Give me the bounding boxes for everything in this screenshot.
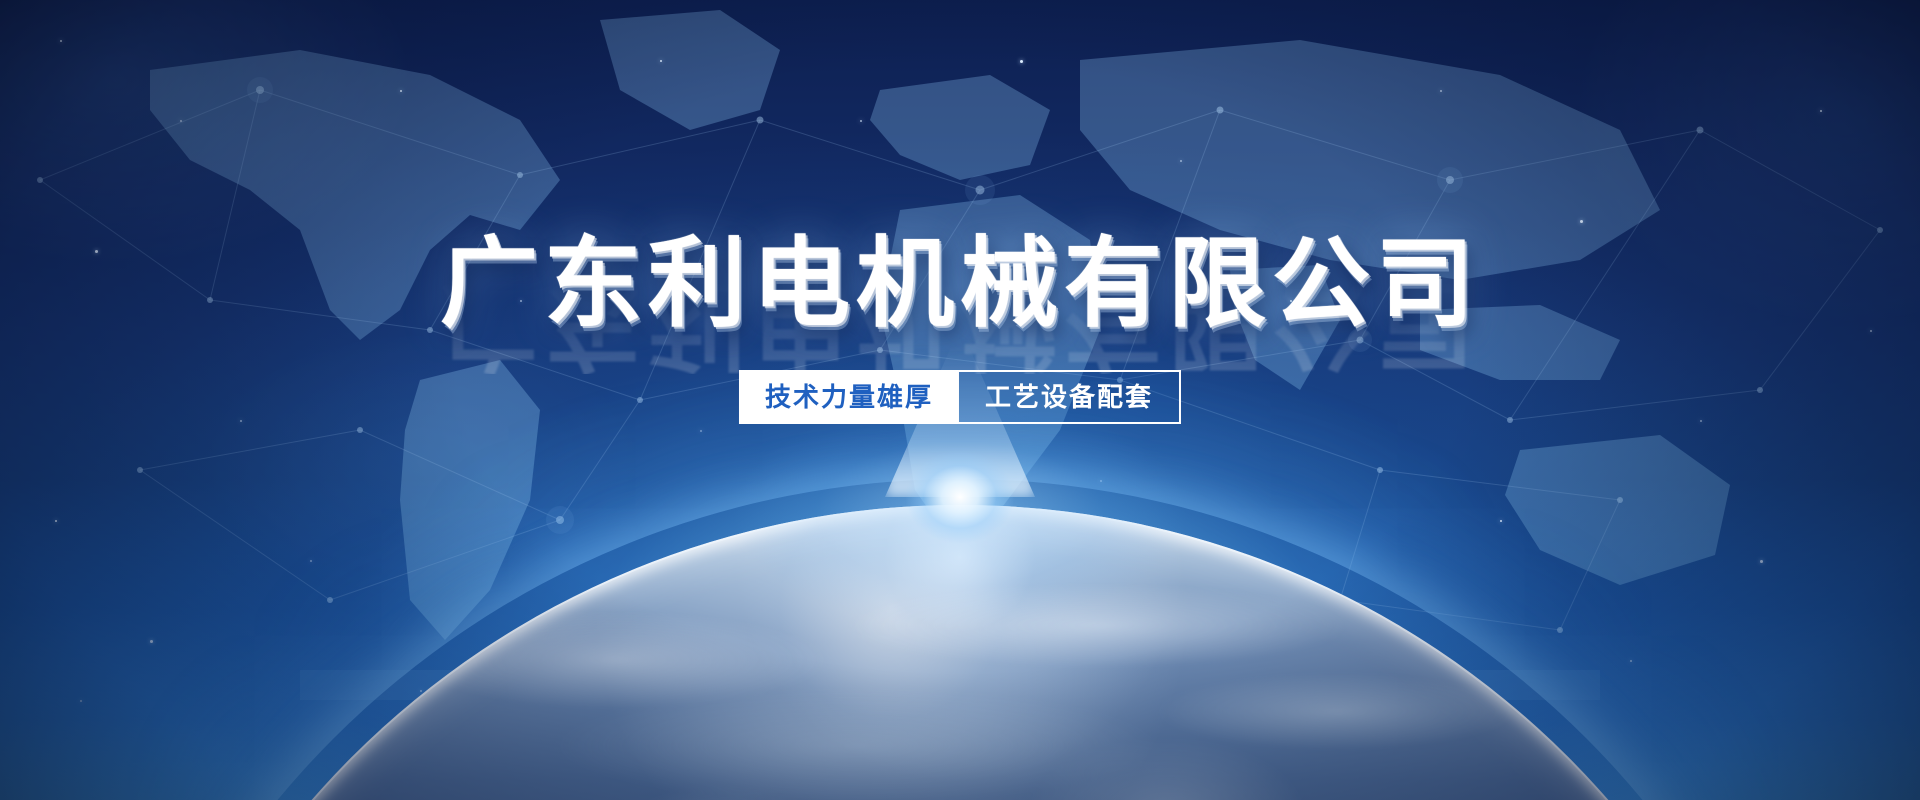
tagline-badge-equipment-support[interactable]: 工艺设备配套 — [959, 370, 1181, 424]
banner-stage: 广东利电机械有限公司 广东利电机械有限公司 技术力量雄厚 工艺设备配套 — [0, 0, 1920, 800]
tagline-badge-group: 技术力量雄厚 工艺设备配套 — [739, 370, 1181, 424]
tagline-badge-technical-strength[interactable]: 技术力量雄厚 — [739, 370, 959, 424]
